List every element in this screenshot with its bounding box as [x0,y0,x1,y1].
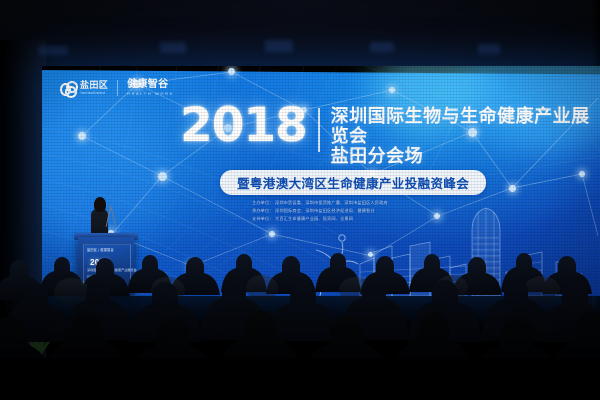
network-node [368,252,373,257]
yantian-district-logo: 盐田区 YantianDistrict [60,81,108,96]
conference-photo: 盐田区 YantianDistrict 健康智谷 HEALTH WORK 201… [0,0,600,400]
network-node [228,68,235,75]
screen-logo-row: 盐田区 YantianDistrict 健康智谷 HEALTH WORK [60,80,174,96]
organizer-credits: 主办单位： 深圳市贸促委、深圳市投资推广署、深圳市盐田区人民政府 承办单位： 深… [252,199,388,222]
event-title-line2: 盐田分会场 [331,146,600,166]
organizer-line: 承办单位： 深圳国际商会、深圳市盐田区经济促进局、健康智谷 [252,207,388,215]
network-node [434,213,440,219]
network-node [269,231,275,237]
ceiling-glint [370,42,394,52]
event-title-line1: 深圳国际生物与生命健康产业展览会 [331,106,600,146]
network-node [158,172,167,181]
ceiling-glint [478,44,500,54]
ceiling-glint [265,40,293,52]
ceiling-glint [160,42,186,53]
microphone-icon [111,207,117,227]
organizer-line: 支持单位： 大百汇生命健康产业园、投资网、全景网 [252,215,388,223]
podium-and-speaker: 盐田区 | 健康智谷 2018 深圳国际生物与生命健康产业展览会 盐田分会场 [72,195,142,300]
network-node [78,132,86,140]
network-node [509,185,516,192]
network-node [389,87,395,93]
left-wall [0,40,46,370]
lectern-accent-band [83,281,129,284]
screen-headline: 2018 深圳国际生物与生命健康产业展览会 盐田分会场 [180,104,600,166]
lectern-logo-text: 盐田区 | 健康智谷 [87,247,114,252]
lectern-year: 2018 [90,258,109,267]
network-node [189,263,196,270]
headline-divider [318,108,320,152]
yantian-swirl-icon [60,81,77,96]
yantian-logo-en: YantianDistrict [80,92,108,95]
lectern-title-line1: 深圳国际生物与生命健康产业展览会 [87,268,137,272]
event-subtitle-pill: 暨粤港澳大湾区生命健康产业投融资峰会 [220,170,486,195]
health-valley-logo: 健康智谷 HEALTH WORK [127,80,174,96]
event-year: 2018 [180,104,307,147]
event-title: 深圳国际生物与生命健康产业展览会 盐田分会场 [331,104,600,166]
health-valley-logo-cn: 健康智谷 [127,80,174,90]
network-node [579,171,585,177]
lectern-title-line2: 盐田分会场 [87,274,99,278]
speaker-hair [94,197,106,212]
organizer-line: 主办单位： 深圳市贸促委、深圳市投资推广署、深圳市盐田区人民政府 [252,199,388,207]
health-valley-logo-en: HEALTH WORK [127,92,174,96]
logo-divider [117,80,118,96]
ceiling-glint [38,46,68,55]
yantian-logo-cn: 盐田区 [80,81,108,90]
